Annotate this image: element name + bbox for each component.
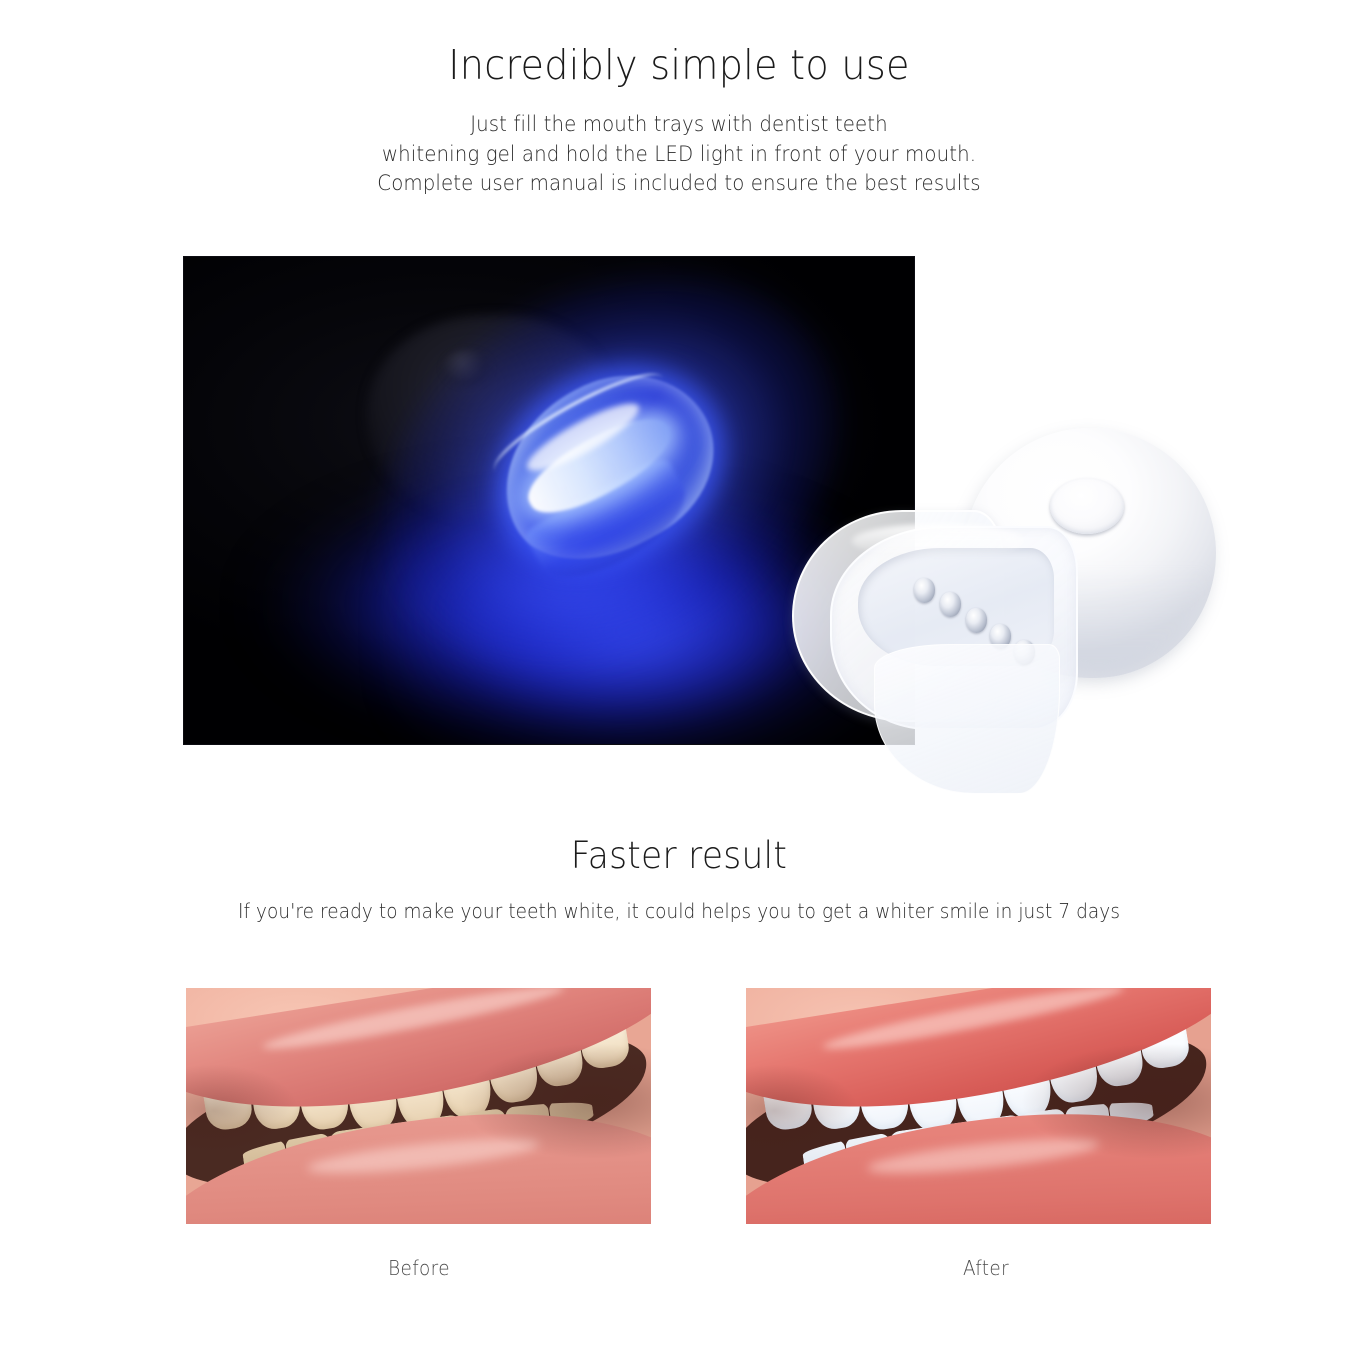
description-line: If you're ready to make your teeth white… bbox=[68, 897, 1290, 925]
led-bulb bbox=[940, 592, 961, 617]
device-power-button bbox=[1050, 478, 1124, 534]
glowing-mouth-tray bbox=[471, 341, 743, 592]
led-bulb bbox=[914, 578, 935, 603]
description-faster-result: If you're ready to make your teeth white… bbox=[0, 897, 1358, 925]
page-title-faster-result: Faster result bbox=[48, 833, 1311, 879]
before-smile-photo bbox=[186, 988, 651, 1224]
description-simple-to-use: Just fill the mouth trays with dentist t… bbox=[0, 110, 1358, 199]
product-detail-page: Incredibly simple to use Just fill the m… bbox=[0, 0, 1358, 1358]
caption-before: Before bbox=[309, 1256, 530, 1280]
caption-after: After bbox=[876, 1256, 1097, 1280]
whitening-device-photo bbox=[778, 418, 1222, 810]
after-smile-photo bbox=[746, 988, 1211, 1224]
description-line: whitening gel and hold the LED light in … bbox=[54, 140, 1303, 170]
led-bulb bbox=[966, 608, 987, 633]
page-title-simple-to-use: Incredibly simple to use bbox=[48, 40, 1311, 90]
description-line: Complete user manual is included to ensu… bbox=[54, 169, 1303, 199]
description-line: Just fill the mouth trays with dentist t… bbox=[54, 110, 1303, 140]
mouth-tray-bottom-lip bbox=[874, 644, 1060, 794]
mouth-tray-highlight bbox=[852, 524, 1024, 558]
